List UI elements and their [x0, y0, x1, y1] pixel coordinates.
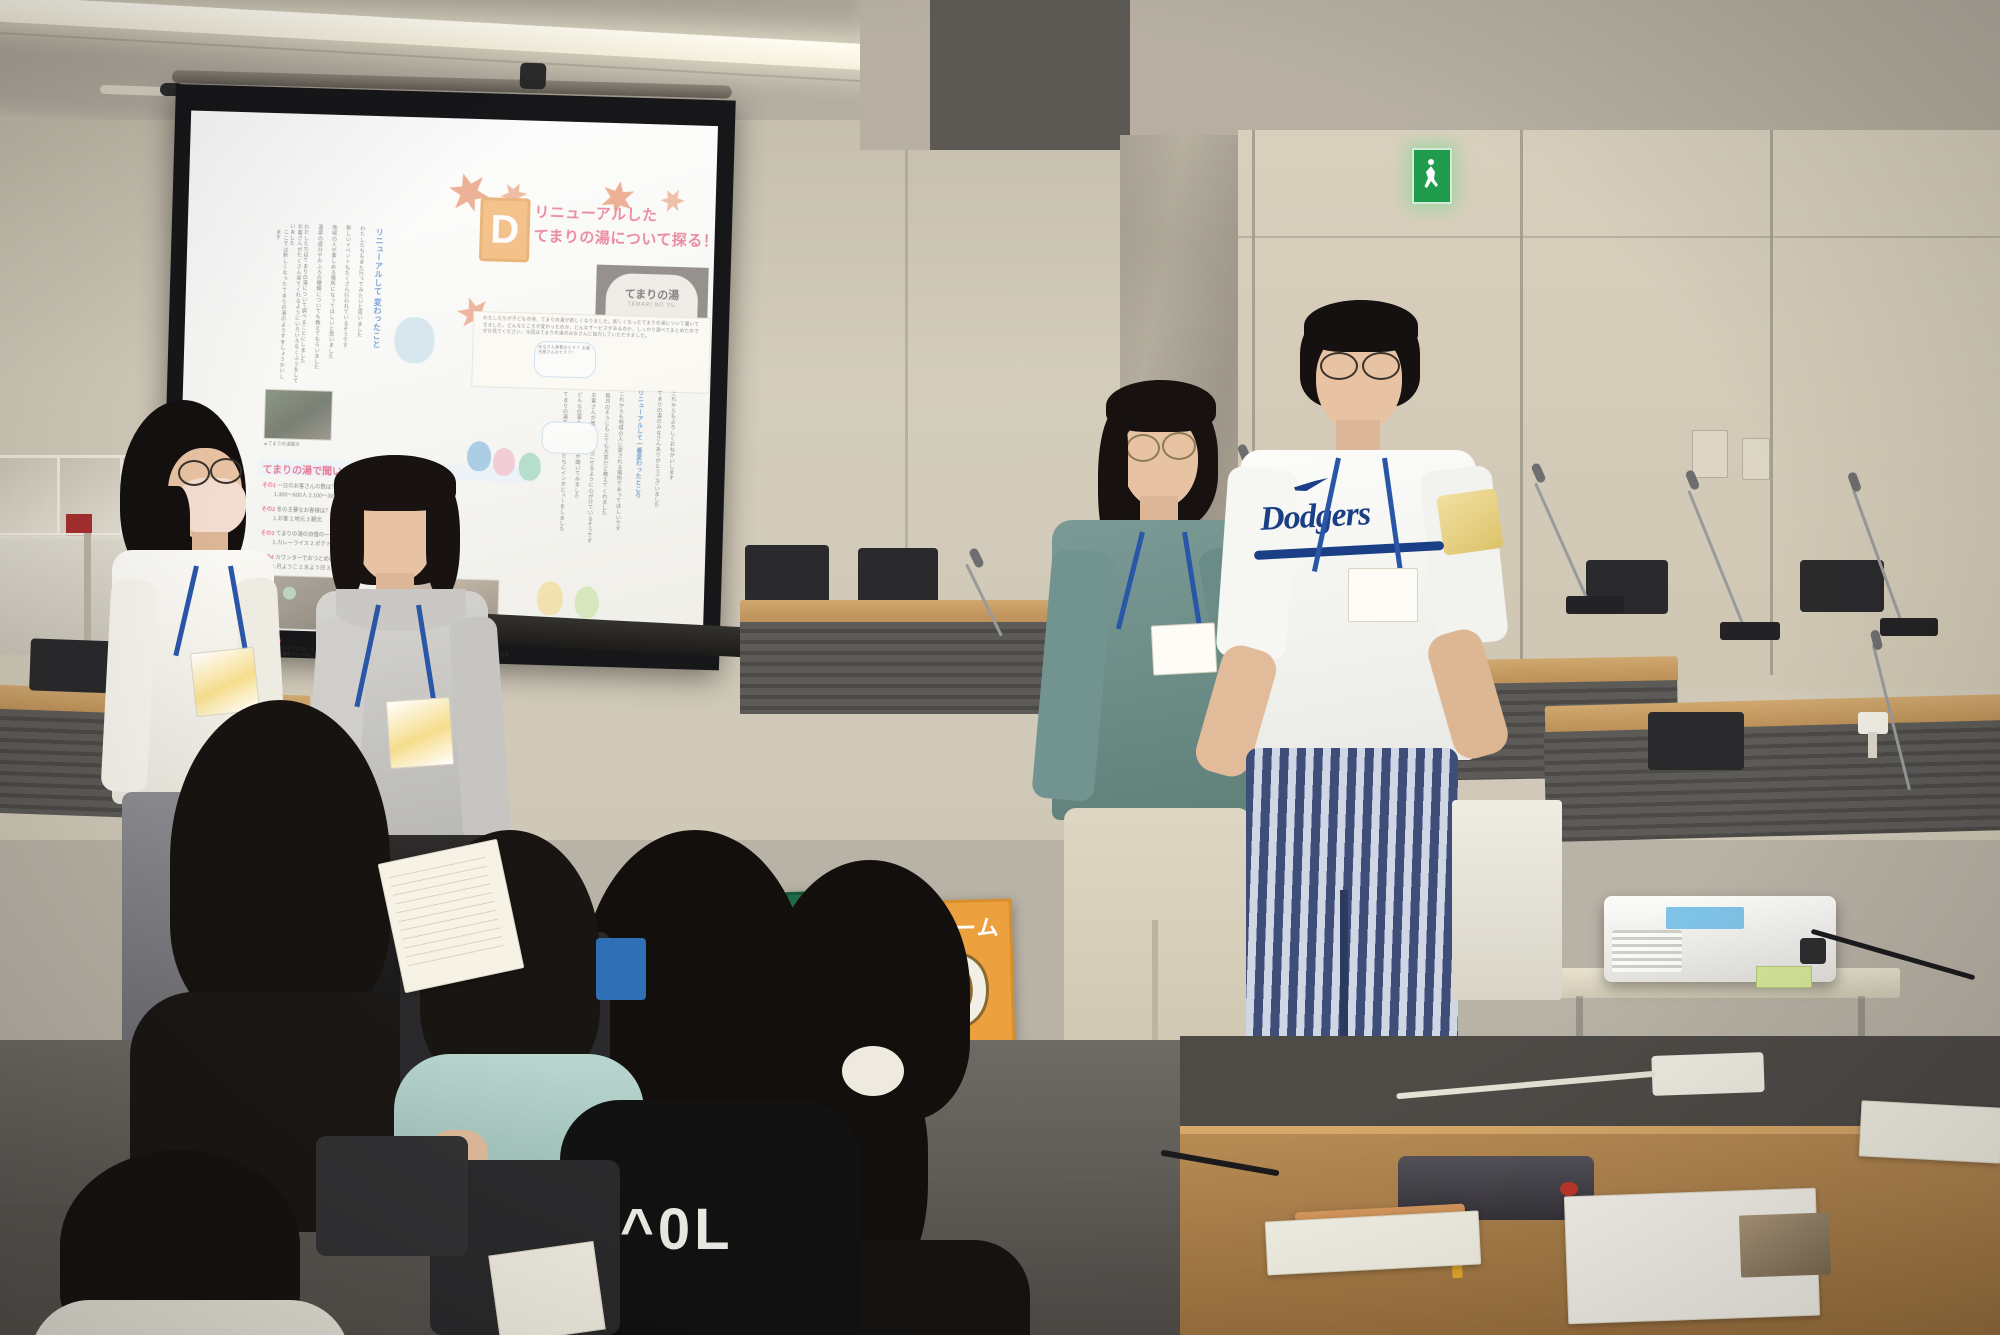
projected-slide: D リニューアルした てまりの湯について探る！ てまりの湯 TEMARI NO … [237, 172, 720, 616]
shelf-cell [0, 458, 60, 536]
slide-photo-1 [264, 389, 333, 441]
temari-logo-name: てまりの湯 [625, 285, 680, 303]
front-desk-device-button[interactable] [1560, 1182, 1578, 1196]
presenter-2-name-badge [386, 697, 455, 769]
audience-2-hair [170, 700, 390, 1020]
blue-object [596, 938, 646, 1000]
dark-wall-recess [930, 0, 1130, 150]
mascot-character-1 [467, 441, 492, 472]
quiz-2-num: その2 [261, 507, 275, 513]
middle-desk-front [740, 622, 1070, 714]
chair-right-5[interactable] [1648, 712, 1744, 770]
screen-mount-bracket [520, 63, 547, 90]
presenter-4-arm-left [1215, 466, 1298, 660]
table-clamp [1858, 712, 1888, 734]
slide-vertical-text-14: これからもよろしくおねがいします [664, 391, 676, 557]
projector-green-sticker [1756, 966, 1812, 988]
chair-back-2[interactable] [745, 545, 829, 607]
mascot-character-2 [493, 448, 516, 477]
presenter-2-hood [336, 589, 466, 631]
temari-logo-inner: てまりの湯 TEMARI NO YU [605, 273, 698, 322]
mascot-character-3 [518, 452, 541, 481]
middle-desk [740, 600, 1070, 624]
presenter-3-glasses-right [1162, 432, 1196, 460]
mic-base-3 [1880, 618, 1938, 636]
slide-side-column: リニューアルして一番変わったところ [631, 390, 644, 540]
emergency-exit-icon [1412, 148, 1452, 204]
mascot-character-5 [574, 586, 599, 619]
audience-6-top [30, 1300, 350, 1335]
bubble-text-1: みなさん泉質のヒミツ お風呂屋さんのヒミツ！ [538, 345, 590, 357]
chair-right-3[interactable] [1800, 560, 1884, 612]
slide-title-line1: リニューアルした [534, 201, 658, 226]
slide-blue-heading: リニューアルして 変わったこと [370, 228, 385, 358]
chair-back-3[interactable] [858, 548, 938, 606]
slide-vertical-text-9: どんな仕事をしているのか聞いてみました [570, 392, 583, 562]
projector-lens [1800, 938, 1826, 964]
slide-vertical-text-4: 温泉の成分やおふろの種類についても教えてもらいました [311, 224, 323, 386]
white-cabinet [1452, 800, 1562, 1000]
presenter-4-glasses-right [1362, 352, 1400, 380]
slide-vertical-text-13: てまりの湯のみなさんありがとうございました [650, 390, 662, 556]
presenter-4-shirt-text: Dodgers [1259, 495, 1371, 539]
quiz-item-2-q: その2 冬の主要なお客様は？ [261, 505, 330, 515]
quiz-3-num: その3 [261, 531, 275, 537]
slide-vertical-text-12: これからも地域の人に愛される場所であってほしいです [612, 391, 625, 561]
document-stack-1 [1265, 1210, 1482, 1275]
mic-base-2 [1720, 622, 1780, 640]
wall-plate-2[interactable] [1742, 438, 1770, 480]
projector-vents [1612, 930, 1682, 972]
presenter-3-name-badge [1151, 622, 1218, 675]
temari-logo-sub: TEMARI NO YU [628, 301, 676, 308]
wall-seam-3 [1770, 130, 1773, 675]
conference-room-photo: D リニューアルした てまりの湯について探る！ てまりの湯 TEMARI NO … [0, 0, 2000, 1335]
presenter-4-armband [1436, 488, 1504, 556]
partition-post [84, 533, 91, 653]
shelf-cell [60, 458, 123, 536]
slide-photo-caption: ▲てまりの湯露天 [263, 441, 300, 448]
pamphlet-photo [1739, 1212, 1831, 1277]
mic-base-1 [1566, 596, 1624, 614]
slide-badge-letter: D [479, 197, 531, 262]
audience-4-shirt-print: ^0L [620, 1196, 790, 1266]
slide-vertical-text-10: お客さんが気持ちよく過ごせるように心がけているそうです [584, 392, 597, 562]
presenter-4-glasses-left [1320, 352, 1358, 380]
presenter-1-glasses-right [210, 458, 242, 484]
projector [1604, 896, 1836, 982]
slide-hero: D リニューアルした てまりの湯について探る！ てまりの湯 TEMARI NO … [457, 179, 719, 317]
presenter-3-glasses-left [1126, 434, 1160, 462]
table-clamp-2 [1868, 732, 1877, 758]
slide-vertical-text-5: 地域の人が楽しめる場所になってほしいと思いました [325, 225, 337, 387]
presenter-2-hair-side-r [426, 483, 460, 597]
presenter-2-hair-side-l [330, 483, 364, 599]
document-stack-3 [1859, 1100, 2000, 1163]
speech-bubble-2 [541, 421, 598, 455]
audience-3-scrunchie [842, 1046, 904, 1096]
wall-plate-1[interactable] [1692, 430, 1728, 478]
presenter-1-glasses-left [178, 460, 210, 486]
quiz-1-num: その1 [262, 483, 276, 489]
slide-vertical-text-8: てまりの湯ではたらく人たちにインタビューをしました [556, 392, 569, 562]
quiz-item-2-a: 1.お客 2.地元 3.観光 [273, 514, 322, 523]
audience-chair-2[interactable] [316, 1136, 468, 1256]
presenter-4-name-badge [1348, 568, 1418, 622]
wall-seam-4 [905, 150, 908, 570]
footer-logo-3 [283, 586, 296, 599]
white-cable-box [1651, 1052, 1764, 1096]
desk-right-lower-front [1544, 720, 2000, 842]
slide-vertical-text-6: 新しいイベントもたくさん行われているそうです [339, 225, 351, 383]
projector-label [1666, 907, 1744, 929]
slide-vertical-text-7: わたしたちもまた行ってみたいと思いました [353, 225, 365, 383]
slide-vertical-text-11: 毎日のそうじもとても大変だと教えてくれました [598, 393, 611, 561]
mascot-character-6 [394, 317, 435, 364]
slide-title-line2: てまりの湯について探る！ [533, 225, 718, 251]
mascot-character-4 [536, 581, 563, 616]
presenter-4-bangs [1304, 300, 1418, 352]
wall-seam-2 [1520, 130, 1523, 690]
audience-handout-2[interactable] [488, 1241, 605, 1335]
running-man-glyph [1422, 157, 1440, 193]
wall-seam-horizontal [1238, 236, 2000, 238]
audience-5-handout-lines [389, 857, 505, 971]
